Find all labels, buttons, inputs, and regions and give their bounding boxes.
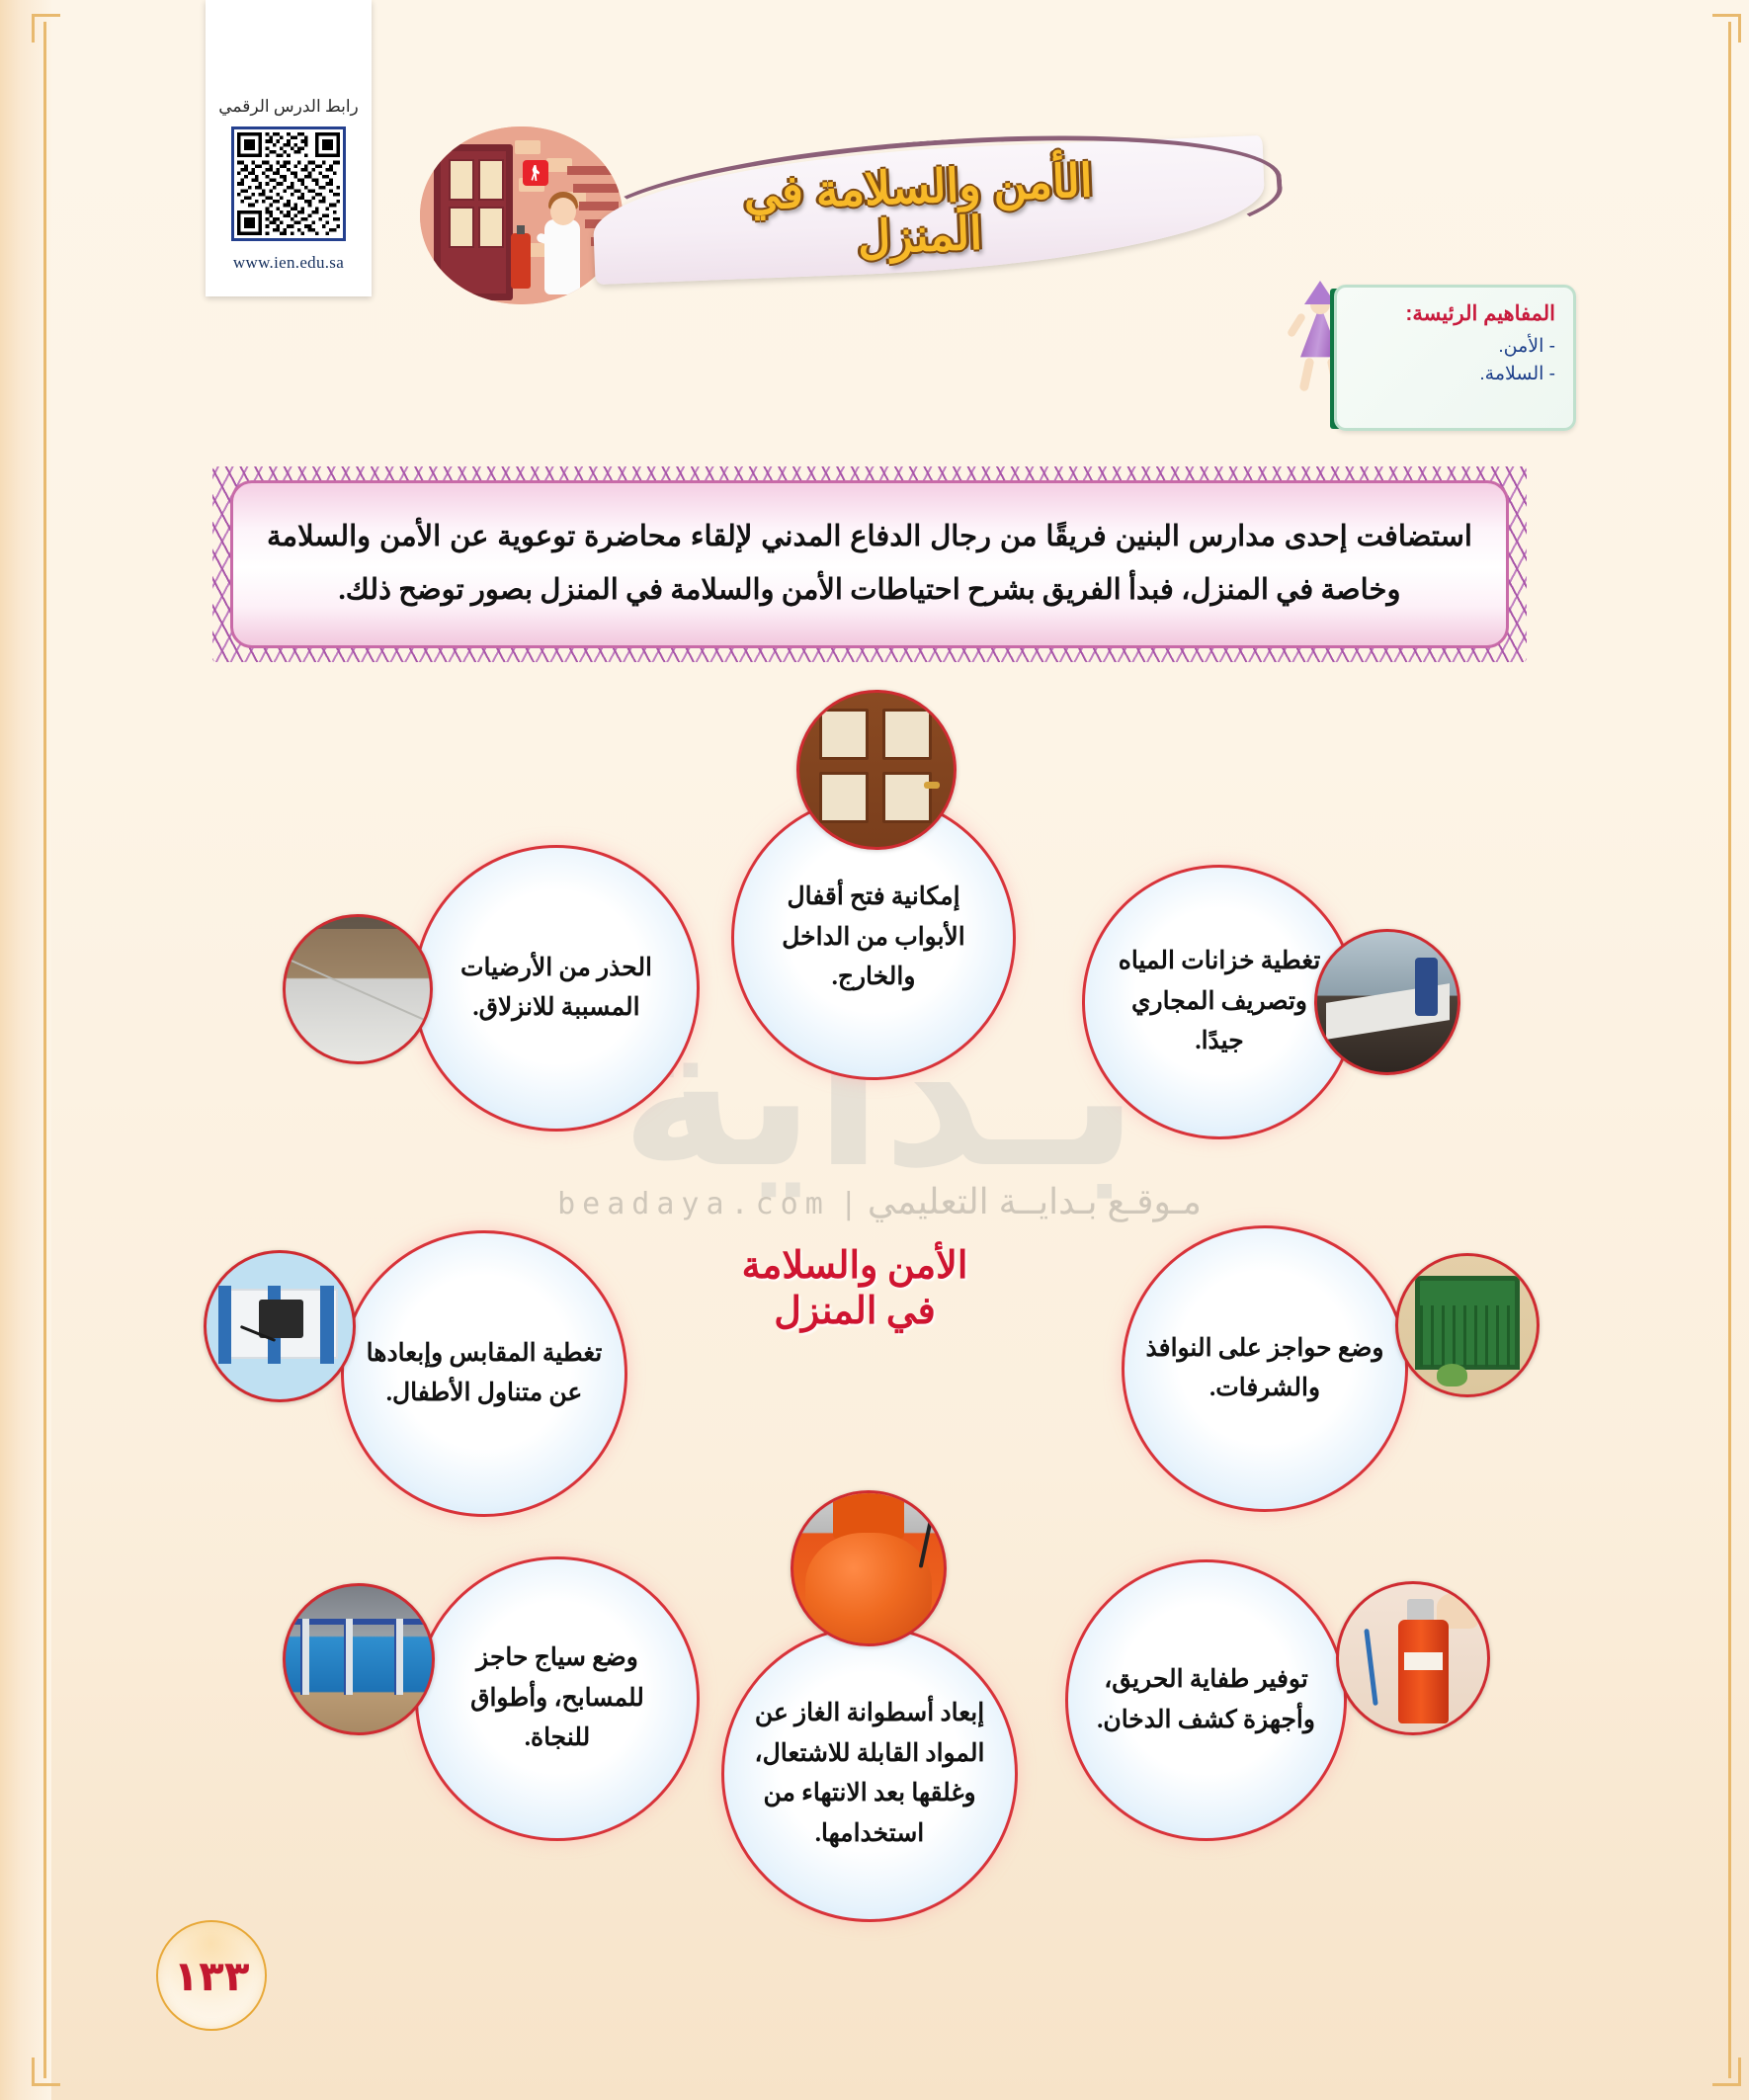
slippery-floor-photo: [283, 914, 433, 1064]
barred-window-photo: [1395, 1253, 1540, 1397]
bubble-gas-cylinder: إبعاد أسطوانة الغاز عن المواد القابلة لل…: [721, 1626, 1018, 1922]
corner-mark-bottom-right: [1712, 2058, 1741, 2086]
page-number: ١٣٣: [156, 1920, 267, 2031]
qr-caption: رابط الدرس الرقمي: [218, 97, 359, 117]
page-left-rule: [43, 22, 46, 2078]
corner-mark-top-left: [32, 14, 60, 42]
fire-extinguisher-photo: [1336, 1581, 1490, 1735]
bubble-fire-extinguisher: توفير طفاية الحريق، وأجهزة كشف الدخان.: [1065, 1559, 1347, 1841]
bubble-pools-text: وضع سياج حاجز للمسابح، وأطواق للنجاة.: [418, 1638, 697, 1759]
corner-mark-bottom-left: [32, 2058, 60, 2086]
student-character: [537, 184, 588, 294]
fire-extinguisher-icon: [511, 233, 531, 289]
bubble-pools: وضع سياج حاجز للمسابح، وأطواق للنجاة.: [415, 1556, 700, 1841]
door: [434, 144, 513, 300]
digital-lesson-link-card[interactable]: رابط الدرس الرقمي: [206, 0, 372, 296]
key-concept-item-2: - السلامة.: [1351, 361, 1555, 388]
power-socket-photo: [204, 1250, 356, 1402]
qr-code-icon[interactable]: [231, 126, 346, 241]
watermark-arabic: مـوقـع بـدايــة التعليمي: [868, 1181, 1202, 1221]
watermark-separator: |: [840, 1187, 858, 1221]
emergency-exit-sign-icon: [523, 160, 548, 186]
bubble-windows: وضع حواجز على النوافذ والشرفات.: [1122, 1225, 1408, 1512]
water-tank-photo: [1314, 929, 1460, 1075]
corner-mark-top-right: [1712, 14, 1741, 42]
page-right-rule: [1728, 22, 1731, 2078]
wooden-door-photo: [796, 690, 957, 850]
watermark-domain: beadaya.com: [557, 1187, 830, 1221]
bubble-sockets-text: تغطية المقابس وإبعادها عن متناول الأطفال…: [344, 1334, 625, 1414]
intro-paragraph-text: استضافت إحدى مدارس البنين فريقًا من رجال…: [267, 511, 1472, 617]
key-concepts-title: المفاهيم الرئيسة:: [1351, 301, 1555, 326]
center-label-line-2: في المنزل: [692, 1289, 1018, 1334]
bubble-slippery-floors: الحذر من الأرضيات المسببة للانزلاق.: [413, 845, 700, 1132]
bubble-gas-cylinder-text: إبعاد أسطوانة الغاز عن المواد القابلة لل…: [724, 1694, 1015, 1854]
swimming-pool-photo: [283, 1583, 435, 1735]
bubble-doors-text: إمكانية فتح أقفال الأبواب من الداخل والخ…: [734, 878, 1013, 998]
watermark-caption: مـوقـع بـدايــة التعليمي | beadaya.com: [326, 1181, 1433, 1222]
lesson-title-line-2: المنزل: [857, 210, 983, 263]
bubble-windows-text: وضع حواجز على النوافذ والشرفات.: [1124, 1329, 1405, 1409]
intro-paragraph-panel: استضافت إحدى مدارس البنين فريقًا من رجال…: [212, 466, 1527, 662]
key-concept-item-1: - الأمن.: [1351, 333, 1555, 361]
lesson-title: الأمن والسلامة في المنزل: [601, 144, 1237, 279]
bubble-sockets: تغطية المقابس وإبعادها عن متناول الأطفال…: [341, 1230, 627, 1517]
diagram-center-label: الأمن والسلامة في المنزل: [692, 1243, 1018, 1335]
qr-url-label: www.ien.edu.sa: [233, 253, 344, 273]
intro-text-box: استضافت إحدى مدارس البنين فريقًا من رجال…: [230, 480, 1509, 648]
gas-cylinder-photo: [791, 1490, 947, 1646]
bubble-fire-extinguisher-text: توفير طفاية الحريق، وأجهزة كشف الدخان.: [1068, 1660, 1344, 1740]
textbook-page: رابط الدرس الرقمي: [0, 0, 1749, 2100]
bubble-slippery-floors-text: الحذر من الأرضيات المسببة للانزلاق.: [416, 949, 697, 1029]
center-label-line-1: الأمن والسلامة: [692, 1243, 1018, 1289]
lesson-hero-illustration: [420, 126, 623, 304]
key-concepts-box: المفاهيم الرئيسة: - الأمن. - السلامة.: [1334, 285, 1576, 431]
